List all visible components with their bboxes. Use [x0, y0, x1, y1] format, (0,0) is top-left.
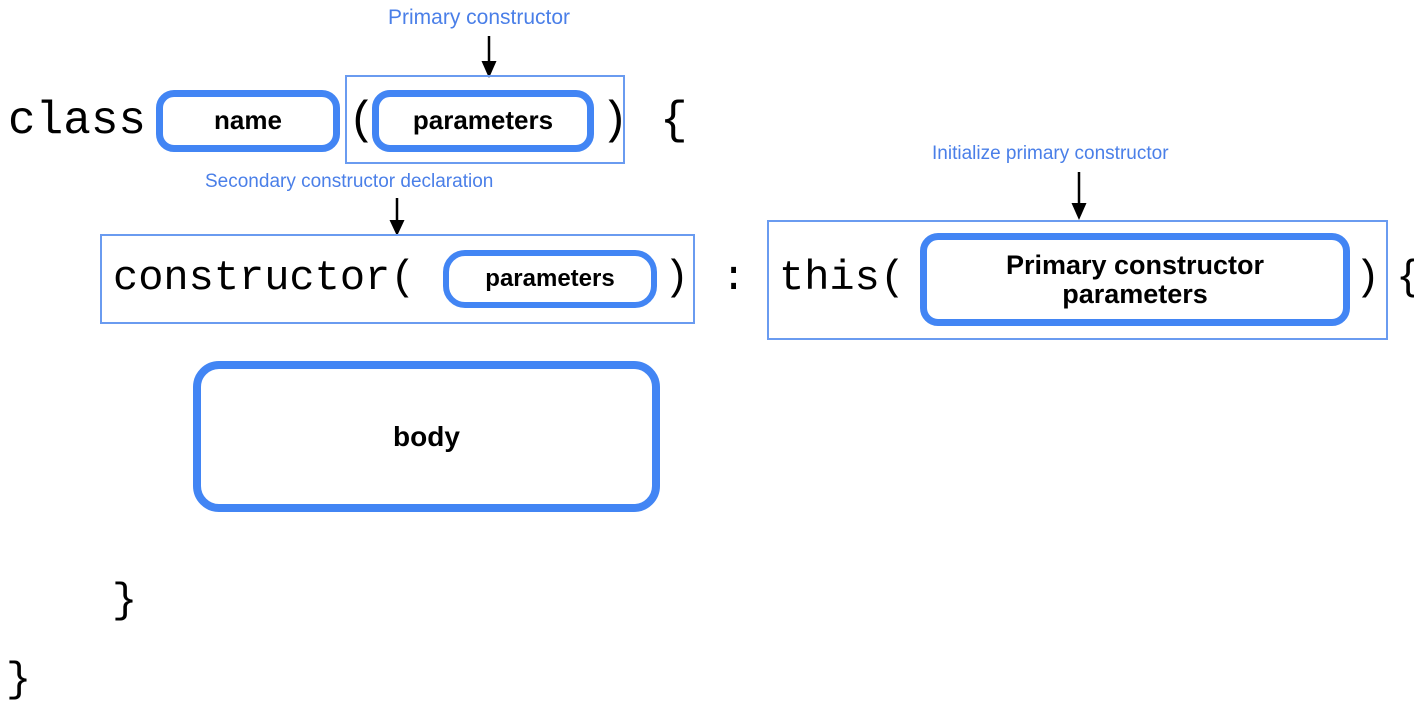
annotation-primary-constructor: Primary constructor — [388, 7, 570, 28]
arrow-down-primary-constructor — [476, 36, 502, 78]
constructor-body-box: body — [193, 361, 660, 512]
this-close-paren: ) — [1355, 257, 1380, 299]
secondary-constructor-open-brace: { — [1396, 257, 1414, 299]
primary-constructor-parameters-box: Primary constructor parameters — [920, 233, 1350, 326]
this-keyword: this( — [779, 257, 905, 299]
annotation-secondary-constructor-declaration: Secondary constructor declaration — [205, 172, 493, 191]
arrow-down-initialize-primary-constructor — [1066, 172, 1092, 220]
primary-constructor-parameters-line2: parameters — [1062, 280, 1208, 308]
constructor-keyword: constructor( — [113, 257, 415, 299]
class-open-brace: { — [660, 98, 688, 144]
syntax-diagram-canvas: Primary constructor class name ( paramet… — [0, 0, 1414, 711]
class-name-box: name — [156, 90, 340, 152]
secondary-parameters-box: parameters — [443, 250, 657, 308]
secondary-constructor-close-brace: } — [112, 580, 137, 622]
primary-close-paren: ) — [601, 98, 629, 144]
class-keyword: class — [8, 98, 146, 144]
annotation-initialize-primary-constructor: Initialize primary constructor — [932, 144, 1169, 163]
class-close-brace: } — [6, 659, 31, 701]
secondary-close-paren: ) — [664, 257, 689, 299]
primary-parameters-box: parameters — [372, 90, 594, 152]
delegation-colon: : — [721, 257, 746, 299]
primary-constructor-parameters-line1: Primary constructor — [1006, 251, 1264, 279]
arrow-down-secondary-constructor — [384, 198, 410, 236]
